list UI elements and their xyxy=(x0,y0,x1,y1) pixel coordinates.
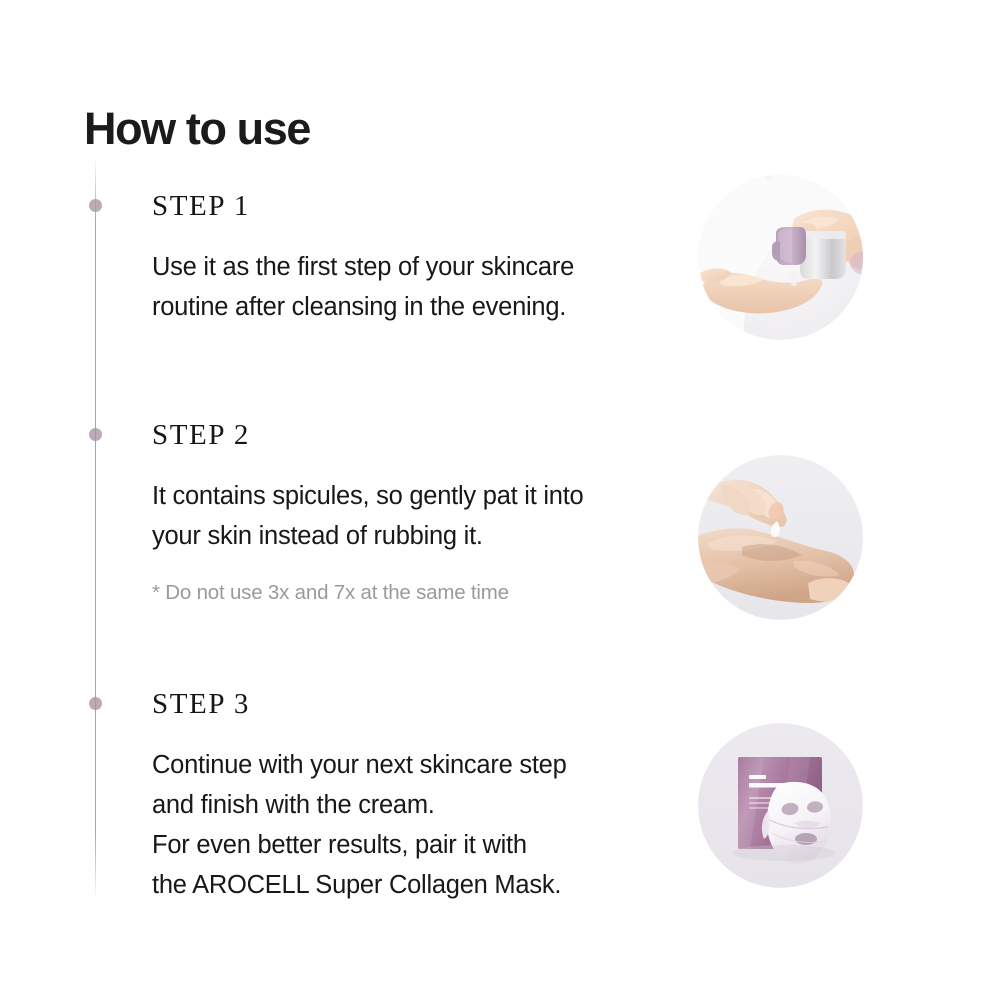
step-1-line-2: routine after cleansing in the evening. xyxy=(152,287,672,327)
how-to-use-page: How to use STEP 1 Use it as the first st… xyxy=(0,0,1000,1000)
step-1-label: STEP 1 xyxy=(152,192,672,221)
step-3-line-1: Continue with your next skincare step xyxy=(152,745,672,785)
step-1-block: STEP 1 Use it as the first step of your … xyxy=(152,192,672,327)
timeline-rail xyxy=(95,155,96,900)
step-3-label: STEP 3 xyxy=(152,690,672,719)
pump-bottle-dispensing-photo xyxy=(698,175,863,340)
step-3-block: STEP 3 Continue with your next skincare … xyxy=(152,690,672,905)
step-1-body: Use it as the first step of your skincar… xyxy=(152,247,672,327)
timeline-dot-step-3 xyxy=(89,697,102,710)
page-title: How to use xyxy=(84,104,310,154)
collagen-mask-illustration xyxy=(698,723,863,888)
patting-product-on-hand-photo xyxy=(698,455,863,620)
step-1-line-1: Use it as the first step of your skincar… xyxy=(152,247,672,287)
step-2-block: STEP 2 It contains spicules, so gently p… xyxy=(152,421,672,607)
pump-bottle-illustration xyxy=(698,175,863,340)
step-2-body: It contains spicules, so gently pat it i… xyxy=(152,476,672,556)
hand-patting-illustration xyxy=(698,455,863,620)
collagen-mask-package-photo xyxy=(698,723,863,888)
timeline-dot-step-1 xyxy=(89,199,102,212)
step-3-line-2: and finish with the cream. xyxy=(152,785,672,825)
step-2-note: * Do not use 3x and 7x at the same time xyxy=(152,580,672,607)
step-3-body: Continue with your next skincare step an… xyxy=(152,745,672,905)
step-2-line-1: It contains spicules, so gently pat it i… xyxy=(152,476,672,516)
step-2-label: STEP 2 xyxy=(152,421,672,450)
step-3-line-3: For even better results, pair it with xyxy=(152,825,672,865)
timeline-dot-step-2 xyxy=(89,428,102,441)
step-3-line-4: the AROCELL Super Collagen Mask. xyxy=(152,865,672,905)
step-2-line-2: your skin instead of rubbing it. xyxy=(152,516,672,556)
